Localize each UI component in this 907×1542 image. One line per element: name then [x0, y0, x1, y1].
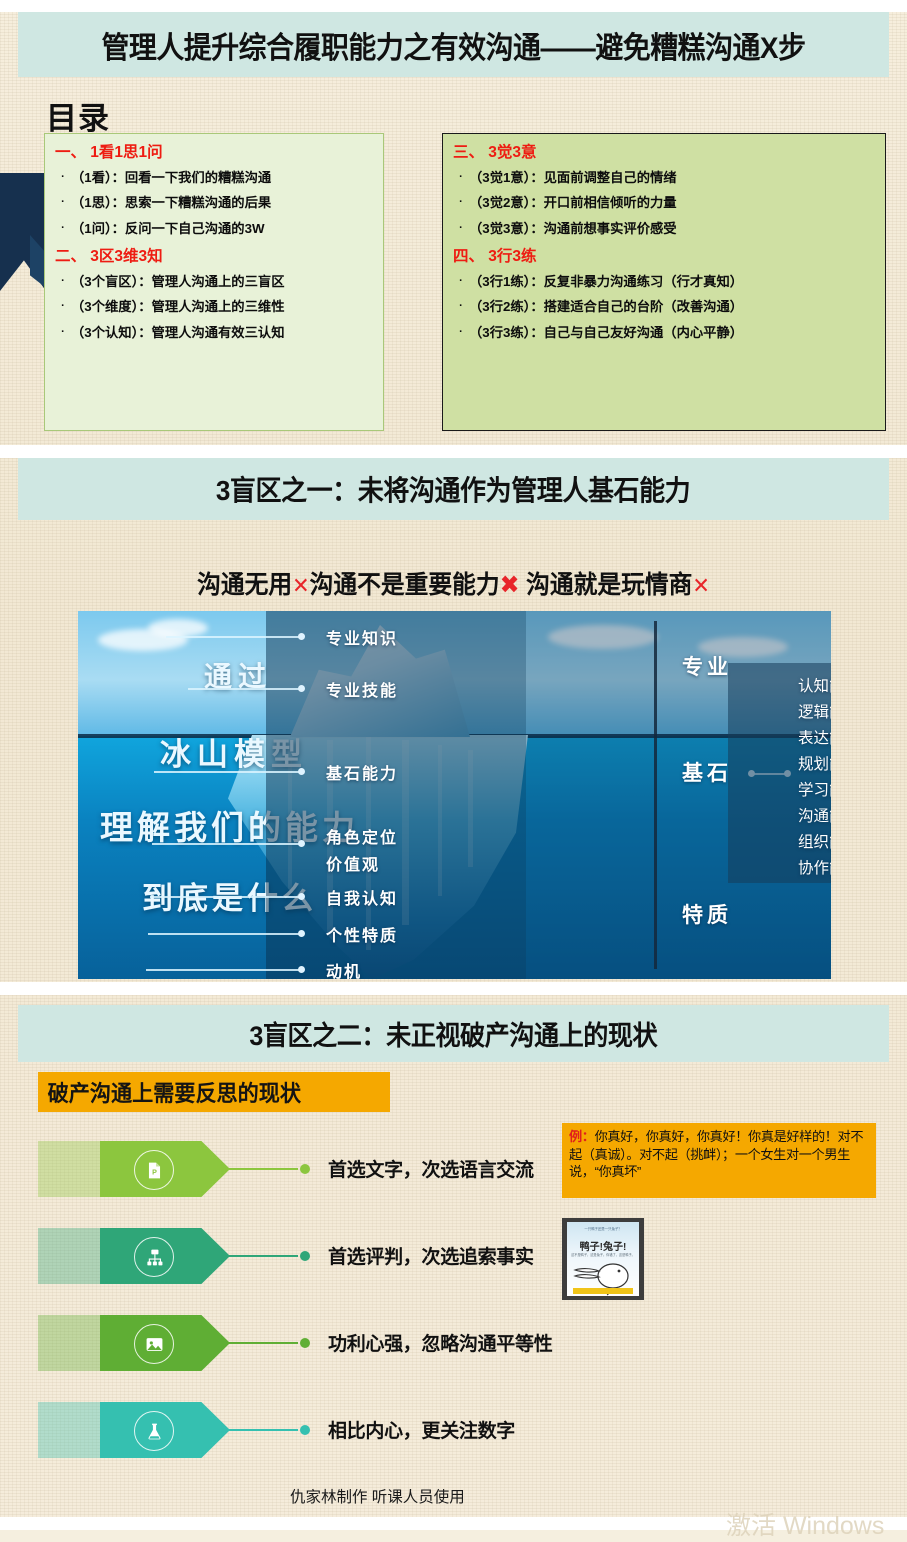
- bullet-dot: ·: [453, 195, 469, 209]
- toc-item: · （3行2练）：搭建适合自己的台阶（改善沟通）: [453, 299, 885, 314]
- document-p-icon: P: [145, 1161, 164, 1180]
- leader-line: [154, 771, 302, 773]
- toc-item: · （3觉3意）：沟通前想事实评价感受: [453, 221, 885, 236]
- connector-line: [224, 1429, 298, 1431]
- bullet-dot: ·: [453, 221, 469, 235]
- toc-group-heading: 三、 3觉3意: [453, 144, 885, 161]
- toc-item-label: （3行3练）：自己与自己友好沟通（内心平静）: [469, 325, 743, 340]
- toc-item: · （3觉2意）：开口前相信倾听的力量: [453, 195, 885, 210]
- iceberg-left-label: 基石能力: [326, 760, 398, 784]
- connector-dot: [300, 1164, 310, 1174]
- connector-dot: [300, 1338, 310, 1348]
- list-item-label: 相比内心，更关注数字: [328, 1416, 515, 1443]
- toc-item: · （1思）：思索一下糟糕沟通的后果: [55, 195, 383, 210]
- book-top-note: 一只鸭子还是一只兔子？: [567, 1226, 639, 1231]
- gap-top: [0, 0, 907, 12]
- example-text: 例：你真好，你真好，你真好！你真是好样的！对不起（真诚）。对不起（挑衅）；一个女…: [569, 1128, 869, 1181]
- toc-item-label: （3觉1意）：见面前调整自己的情绪: [469, 170, 677, 185]
- bullet-dot: ·: [453, 299, 469, 313]
- toc-item-label: （3觉3意）：沟通前想事实评价感受: [469, 221, 677, 236]
- example-callout: 例：你真好，你真好，你真好！你真是好样的！对不起（真诚）。对不起（挑衅）；一个女…: [562, 1123, 876, 1198]
- iceberg-left-label: 自我认知: [326, 885, 398, 909]
- leader-dot: [298, 685, 305, 692]
- toc-item: · （1问）：反问一下自己沟通的3W: [55, 221, 383, 236]
- icon-ring: P: [134, 1150, 174, 1190]
- image-icon: [145, 1335, 164, 1354]
- toc-item: · （3行3练）：自己与自己友好沟通（内心平静）: [453, 325, 885, 340]
- example-lead-label: 例：: [569, 1129, 595, 1144]
- book-title: 鸭子!兔子!: [567, 1238, 639, 1253]
- leader-line: [148, 933, 302, 935]
- toc-item-label: （1问）：反问一下自己沟通的3W: [71, 221, 265, 236]
- cross-mark-icon: ✖: [500, 571, 520, 599]
- gap-below-iceberg: [0, 982, 907, 995]
- connector-dot: [300, 1425, 310, 1435]
- iceberg-left-label: 专业技能: [326, 677, 398, 701]
- toc-item-label: （3行2练）：搭建适合自己的台阶（改善沟通）: [469, 299, 743, 314]
- footer-credit: 仇家林制作 听课人员使用: [290, 1485, 465, 1507]
- cloud-icon: [148, 619, 208, 637]
- connector-line: [224, 1342, 298, 1344]
- connector-line: [224, 1168, 298, 1170]
- windows-activation-watermark: 激活 Windows: [726, 1506, 884, 1542]
- leader-line: [152, 843, 302, 845]
- reflection-tag-label: 破产沟通上需要反思的现状: [38, 1076, 301, 1108]
- negative-statement-text: 沟通就是玩情商: [526, 571, 692, 599]
- row-tail: [38, 1402, 106, 1458]
- connector-dot: [300, 1251, 310, 1261]
- ability-item: 协作能力: [798, 856, 831, 878]
- panel-divider: [654, 621, 657, 969]
- negative-statement-text: 沟通无用: [197, 571, 292, 599]
- reflection-tag: 破产沟通上需要反思的现状: [38, 1072, 390, 1112]
- leader-dot: [298, 840, 305, 847]
- toc-column-right: 三、 3觉3意 · （3觉1意）：见面前调整自己的情绪 · （3觉2意）：开口前…: [442, 133, 886, 431]
- bullet-dot: ·: [55, 195, 71, 209]
- negative-statements: 沟通无用✕沟通不是重要能力✖ 沟通就是玩情商✕: [23, 565, 885, 601]
- toc-heading: 目录: [46, 93, 110, 138]
- iceberg-group-label: 专业: [682, 651, 732, 681]
- flask-icon: [145, 1422, 164, 1441]
- bullet-dot: ·: [55, 274, 71, 288]
- toc-item: · （1看）：回看一下我们的糟糕沟通: [55, 170, 383, 185]
- toc-item-label: （1思）：思索一下糟糕沟通的后果: [71, 195, 271, 210]
- leader-line: [150, 896, 302, 898]
- svg-text:P: P: [152, 1168, 157, 1176]
- leader-dot: [298, 768, 305, 775]
- toc-item-label: （3行1练）：反复非暴力沟通练习（行才真知）: [469, 274, 743, 289]
- icon-ring: [134, 1324, 174, 1364]
- leader-line: [146, 969, 302, 971]
- bullet-dot: ·: [55, 325, 71, 339]
- leader-line: [166, 636, 302, 638]
- ability-item: 学习能力: [798, 778, 831, 800]
- bullet-dot: ·: [55, 299, 71, 313]
- leader-dot: [298, 930, 305, 937]
- toc-item: · （3觉1意）：见面前调整自己的情绪: [453, 170, 885, 185]
- toc-item-label: （3个维度）：管理人沟通上的三维性: [71, 299, 285, 314]
- row-tail: [38, 1315, 106, 1371]
- toc-item: · （3行1练）：反复非暴力沟通练习（行才真知）: [453, 274, 885, 289]
- iceberg-left-label: 个性特质: [326, 922, 398, 946]
- duck-rabbit-book-cover: 一只鸭子还是一只兔子？ 鸭子!兔子! 这不是鸭子，这是兔子。你错了，这是鸭子。: [562, 1218, 644, 1300]
- bullet-dot: ·: [55, 221, 71, 235]
- toc-item-label: （3觉2意）：开口前相信倾听的力量: [469, 195, 677, 210]
- row-tail: [38, 1228, 106, 1284]
- iceberg-group-label: 基石: [682, 757, 732, 787]
- list-item[interactable]: 首选评判，次选追索事实: [38, 1228, 558, 1284]
- cross-mark-icon: ✕: [292, 573, 310, 598]
- toc-item-label: （3个认知）：管理人沟通有效三认知: [71, 325, 285, 340]
- toc-item: · （3个认知）：管理人沟通有效三认知: [55, 325, 383, 340]
- iceberg-left-label: 动机: [326, 958, 362, 979]
- toc-item: · （3个盲区）：管理人沟通上的三盲区: [55, 274, 383, 289]
- ability-item: 规划能力: [798, 752, 831, 774]
- iceberg-left-label: 角色定位: [326, 824, 398, 848]
- bullet-dot: ·: [453, 325, 469, 339]
- connector-line: [224, 1255, 298, 1257]
- book-bottom-bar: [573, 1288, 633, 1294]
- leader-dot: [298, 893, 305, 900]
- list-item-label: 首选评判，次选追索事实: [328, 1242, 534, 1269]
- slide-title-banner: 管理人提升综合履职能力之有效沟通——避免糟糕沟通X步: [18, 12, 889, 77]
- negative-statement-text: 沟通不是重要能力: [310, 571, 500, 599]
- toc-item-label: （3个盲区）：管理人沟通上的三盲区: [71, 274, 285, 289]
- gap-below-toc: [0, 445, 907, 458]
- iceberg-group-label: 特质: [682, 899, 732, 929]
- list-item-label: 首选文字，次选语言交流: [328, 1155, 534, 1182]
- section-one-banner: 3盲区之一：未将沟通作为管理人基石能力: [18, 458, 889, 520]
- ability-item: 沟通能力: [798, 804, 831, 826]
- ability-item: 组织能力: [798, 830, 831, 852]
- section-two-title: 3盲区之二：未正视破产沟通上的现状: [250, 1014, 658, 1053]
- section-two-banner: 3盲区之二：未正视破产沟通上的现状: [18, 1005, 889, 1062]
- toc-column-left: 一、 1看1思1问 · （1看）：回看一下我们的糟糕沟通 · （1思）：思索一下…: [44, 133, 384, 431]
- leader-line: [188, 688, 302, 690]
- ability-item: 逻辑能力: [798, 700, 831, 722]
- cross-mark-icon: ✕: [692, 573, 710, 598]
- ability-item: 表达能力: [798, 726, 831, 748]
- toc-item: · （3个维度）：管理人沟通上的三维性: [55, 299, 383, 314]
- toc-item-label: （1看）：回看一下我们的糟糕沟通: [71, 170, 271, 185]
- list-item-label: 功利心强，忽略沟通平等性: [328, 1329, 552, 1356]
- leader-dot: [298, 966, 305, 973]
- toc-group-heading: 二、 3区3维3知: [55, 248, 383, 265]
- bullet-dot: ·: [453, 274, 469, 288]
- section-one-title: 3盲区之一：未将沟通作为管理人基石能力: [216, 469, 690, 509]
- iceberg-model-image: 通过 冰山模型 理解我们的能力 到底是什么 专业知识 专业技能 基石能力 角色定…: [78, 611, 831, 979]
- list-item[interactable]: P 首选文字，次选语言交流: [38, 1141, 558, 1197]
- ability-item: 认知能力: [798, 674, 831, 696]
- toc-group-heading: 一、 1看1思1问: [55, 144, 383, 161]
- bullet-dot: ·: [453, 170, 469, 184]
- example-body: 你真好，你真好，你真好！你真是好样的！对不起（真诚）。对不起（挑衅）；一个女生对…: [569, 1129, 863, 1179]
- org-chart-icon: [145, 1248, 164, 1267]
- iceberg-left-label: 专业知识: [326, 625, 398, 649]
- iceberg-left-label: 价值观: [326, 851, 380, 875]
- list-item[interactable]: 功利心强，忽略沟通平等性: [38, 1315, 558, 1371]
- book-cover-art: 一只鸭子还是一只兔子？ 鸭子!兔子! 这不是鸭子，这是兔子。你错了，这是鸭子。: [567, 1222, 639, 1296]
- icon-ring: [134, 1411, 174, 1451]
- list-item[interactable]: 相比内心，更关注数字: [38, 1402, 558, 1458]
- bullet-dot: ·: [55, 170, 71, 184]
- slide-title: 管理人提升综合履职能力之有效沟通——避免糟糕沟通X步: [101, 23, 805, 67]
- leader-dot: [298, 633, 305, 640]
- row-tail: [38, 1141, 106, 1197]
- icon-ring: [134, 1237, 174, 1277]
- toc-group-heading: 四、 3行3练: [453, 248, 885, 265]
